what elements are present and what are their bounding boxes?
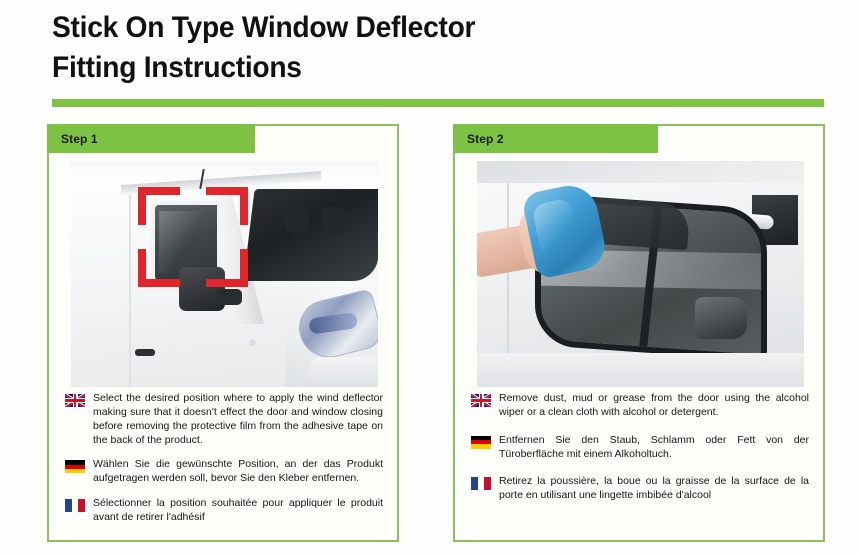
step-2-german-row: Entfernen Sie den Staub, Schlamm oder Fe…: [461, 434, 815, 462]
germany-flag-icon: [65, 460, 85, 473]
mirror-lower-section: [216, 289, 242, 305]
step-2-header: Step 2: [453, 124, 658, 153]
headrest-right: [321, 207, 345, 233]
step-2-header-label: Step 2: [453, 132, 504, 146]
step-1-german-row: Wählen Sie die gewünschte Position, an d…: [55, 458, 389, 486]
step-2-english-row: Remove dust, mud or grease from the door…: [461, 392, 815, 420]
van-body-marker: [249, 339, 256, 346]
germany-flag-icon: [471, 436, 491, 449]
instruction-sheet: Stick On Type Window Deflector Fitting I…: [0, 0, 859, 556]
step-2-french-text: Retirez la poussière, la boue ou la grai…: [499, 475, 815, 503]
step-1-english-text: Select the desired position where to app…: [93, 392, 389, 447]
van-side-mirror: [695, 297, 747, 339]
van-windshield: [243, 189, 378, 281]
step-1-text-area: Select the desired position where to app…: [55, 392, 389, 536]
step-1-french-text: Sélectionner la position souhaitée pour …: [93, 497, 389, 525]
step-2-panel: Step 2: [453, 124, 825, 542]
title-line-2: Fitting Instructions: [52, 48, 766, 88]
step-1-panel: Step 1: [47, 124, 399, 542]
page-title: Stick On Type Window Deflector Fitting I…: [52, 8, 812, 88]
uk-flag-icon: [471, 394, 491, 407]
headrest-left: [285, 207, 309, 233]
step-2-english-text: Remove dust, mud or grease from the door…: [499, 392, 815, 420]
van-body-seam: [129, 195, 131, 387]
step-1-photo: [71, 161, 378, 387]
step-2-french-row: Retirez la poussière, la boue ou la grai…: [461, 475, 815, 503]
van-bumper: [309, 357, 378, 387]
accent-divider-bar: [52, 99, 824, 107]
france-flag-icon: [471, 477, 491, 490]
step-1-german-text: Wählen Sie die gewünschte Position, an d…: [93, 458, 389, 486]
step-2-german-text: Entfernen Sie den Staub, Schlamm oder Fe…: [499, 434, 815, 462]
uk-flag-icon: [65, 394, 85, 407]
step-1-header-label: Step 1: [47, 132, 98, 146]
step-1-header: Step 1: [47, 124, 255, 153]
van-rocker-panel: [477, 353, 804, 387]
van-door-handle: [135, 349, 155, 356]
step-1-english-row: Select the desired position where to app…: [55, 392, 389, 447]
title-line-1: Stick On Type Window Deflector: [52, 8, 766, 48]
france-flag-icon: [65, 499, 85, 512]
step-2-text-area: Remove dust, mud or grease from the door…: [461, 392, 815, 517]
step-1-french-row: Sélectionner la position souhaitée pour …: [55, 497, 389, 525]
red-highlight-bracket: [138, 187, 248, 287]
step-2-photo: [477, 161, 804, 387]
